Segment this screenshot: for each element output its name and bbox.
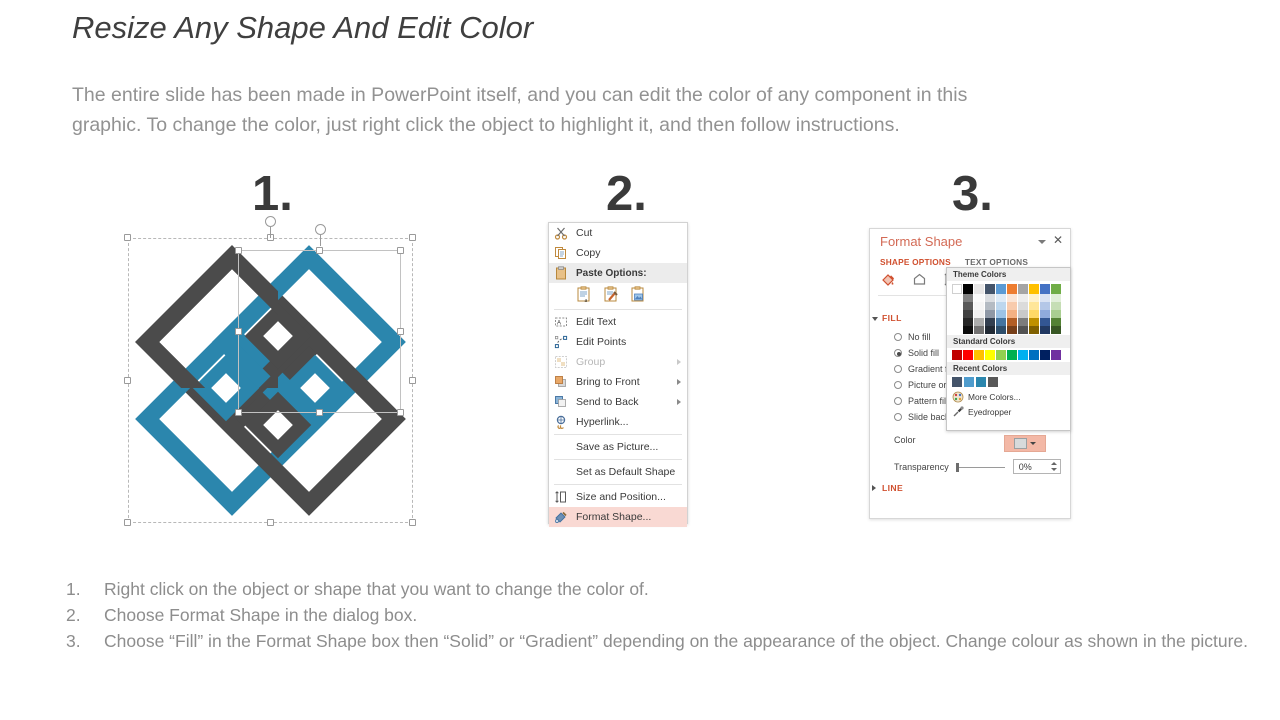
theme-color-variant[interactable] xyxy=(963,302,973,310)
theme-color-variant[interactable] xyxy=(996,302,1006,310)
theme-color-column-6[interactable] xyxy=(1018,284,1028,334)
theme-color-variant[interactable] xyxy=(952,326,962,334)
theme-color-variant[interactable] xyxy=(1029,310,1039,318)
theme-color-variant[interactable] xyxy=(985,294,995,302)
menu-separator xyxy=(554,434,682,435)
recent-color-swatch[interactable] xyxy=(976,377,986,387)
theme-color-column-2[interactable] xyxy=(974,284,984,334)
color-label: Color xyxy=(894,435,916,445)
theme-color-variant[interactable] xyxy=(985,318,995,326)
instruction-text: Choose “Fill” in the Format Shape box th… xyxy=(104,628,1276,654)
menu-item-label: Paste Options: xyxy=(576,268,647,279)
resize-handle-ne[interactable] xyxy=(409,234,416,241)
standard-color-swatch[interactable] xyxy=(963,350,973,360)
theme-color-column-0[interactable] xyxy=(952,284,962,334)
hyperlink-icon xyxy=(554,415,568,429)
instruction-number: 1. xyxy=(66,576,104,602)
menu-separator xyxy=(554,484,682,485)
format-shape-tabs[interactable]: SHAPE OPTIONS TEXT OPTIONS xyxy=(880,257,1028,267)
spinner-up-icon[interactable] xyxy=(1051,462,1057,465)
theme-color-variant[interactable] xyxy=(1007,294,1017,302)
theme-color-variant[interactable] xyxy=(1007,310,1017,318)
theme-color-variant[interactable] xyxy=(1051,318,1061,326)
inner-handle-se[interactable] xyxy=(397,409,404,416)
instructions-list: 1. Right click on the object or shape th… xyxy=(66,576,1276,654)
theme-color-column-7[interactable] xyxy=(1029,284,1039,334)
instruction-number: 2. xyxy=(66,602,104,628)
radio-icon[interactable] xyxy=(894,413,902,421)
theme-color-variant[interactable] xyxy=(1051,326,1061,334)
standard-color-swatch[interactable] xyxy=(1040,350,1050,360)
theme-color-variant[interactable] xyxy=(1029,326,1039,334)
svg-text:A: A xyxy=(557,321,561,327)
menu-item-label: Hyperlink... xyxy=(576,416,629,428)
theme-color-variant[interactable] xyxy=(1040,310,1050,318)
step-number-2: 2. xyxy=(606,170,647,219)
theme-color-variant[interactable] xyxy=(974,310,984,318)
resize-handle-w[interactable] xyxy=(124,377,131,384)
menu-item-size-and-position[interactable]: Size and Position... xyxy=(549,487,687,507)
inner-handle-s[interactable] xyxy=(316,409,323,416)
theme-color-variant[interactable] xyxy=(985,310,995,318)
eyedropper-item[interactable]: Eyedropper xyxy=(947,404,1070,419)
theme-color-swatch[interactable] xyxy=(1029,284,1039,294)
bring-front-icon xyxy=(554,375,568,389)
recent-colors-grid[interactable] xyxy=(947,375,1070,389)
resize-handle-se[interactable] xyxy=(409,519,416,526)
inner-handle-n[interactable] xyxy=(316,247,323,254)
theme-color-variant[interactable] xyxy=(952,302,962,310)
theme-color-swatch[interactable] xyxy=(1018,284,1028,294)
eyedropper-icon xyxy=(952,406,964,418)
submenu-arrow-icon xyxy=(677,379,681,385)
eyedropper-label: Eyedropper xyxy=(968,407,1011,417)
instruction-item-1: 1. Right click on the object or shape th… xyxy=(66,576,1276,602)
theme-color-variant[interactable] xyxy=(963,326,973,334)
spinner-down-icon[interactable] xyxy=(1051,468,1057,471)
theme-color-variant[interactable] xyxy=(963,294,973,302)
menu-separator xyxy=(554,309,682,310)
recent-colors-label: Recent Colors xyxy=(947,362,1070,375)
recent-color-swatch[interactable] xyxy=(988,377,998,387)
theme-color-variant[interactable] xyxy=(1018,326,1028,334)
close-icon[interactable]: ✕ xyxy=(1053,234,1063,246)
menu-item-label: Group xyxy=(576,356,605,368)
paste-keep-formatting-icon[interactable]: a xyxy=(576,286,593,304)
standard-color-swatch[interactable] xyxy=(952,350,962,360)
theme-color-variant[interactable] xyxy=(1040,318,1050,326)
more-colors-item[interactable]: More Colors... xyxy=(947,389,1070,404)
format-shape-icon xyxy=(554,510,568,524)
menu-item-label: Save as Picture... xyxy=(576,441,658,453)
theme-color-variant[interactable] xyxy=(952,310,962,318)
theme-color-column-1[interactable] xyxy=(963,284,973,334)
transparency-label: Transparency xyxy=(894,462,949,472)
theme-color-variant[interactable] xyxy=(996,310,1006,318)
standard-colors-label: Standard Colors xyxy=(947,335,1070,348)
step-number-1: 1. xyxy=(252,170,293,219)
theme-color-swatch[interactable] xyxy=(963,284,973,294)
radio-icon[interactable] xyxy=(894,397,902,405)
fill-bucket-icon[interactable] xyxy=(880,272,897,292)
theme-color-variant[interactable] xyxy=(1029,294,1039,302)
theme-color-variant[interactable] xyxy=(996,294,1006,302)
menu-item-label: Copy xyxy=(576,247,601,259)
inner-handle-e[interactable] xyxy=(397,328,404,335)
theme-color-swatch[interactable] xyxy=(1051,284,1061,294)
resize-handle-sw[interactable] xyxy=(124,519,131,526)
theme-color-swatch[interactable] xyxy=(1007,284,1017,294)
recent-color-swatch[interactable] xyxy=(952,377,962,387)
menu-item-send-to-back[interactable]: Send to Back xyxy=(549,392,687,412)
scissors-icon xyxy=(554,226,568,240)
submenu-arrow-icon xyxy=(677,399,681,405)
subtitle-line-2: graphic. To change the color, just right… xyxy=(72,110,1212,140)
fill-option-label: No fill xyxy=(908,332,931,342)
palette-icon xyxy=(952,391,964,403)
color-dropdown[interactable]: Theme Colors Standard Colors Recent Colo… xyxy=(946,267,1071,431)
format-shape-title: Format Shape xyxy=(880,234,962,249)
transparency-row[interactable]: Transparency 0% xyxy=(894,459,1066,474)
theme-color-variant[interactable] xyxy=(974,294,984,302)
submenu-arrow-icon xyxy=(677,359,681,365)
theme-color-swatch[interactable] xyxy=(1040,284,1050,294)
expand-triangle-icon xyxy=(872,317,878,321)
theme-color-variant[interactable] xyxy=(974,326,984,334)
theme-color-column-3[interactable] xyxy=(985,284,995,334)
standard-colors-grid[interactable] xyxy=(947,348,1070,362)
theme-color-variant[interactable] xyxy=(1040,302,1050,310)
resize-handle-s[interactable] xyxy=(267,519,274,526)
inner-handle-ne[interactable] xyxy=(397,247,404,254)
instruction-text: Right click on the object or shape that … xyxy=(104,576,1276,602)
color-swatch xyxy=(1014,438,1027,449)
edit-text-icon: A xyxy=(554,315,568,329)
theme-color-variant[interactable] xyxy=(952,318,962,326)
theme-color-column-8[interactable] xyxy=(1040,284,1050,334)
paste-picture-icon[interactable] xyxy=(630,286,647,304)
menu-item-label: Bring to Front xyxy=(576,376,640,388)
theme-color-variant[interactable] xyxy=(1051,302,1061,310)
resize-handle-nw[interactable] xyxy=(124,234,131,241)
instruction-number: 3. xyxy=(66,628,104,654)
rotate-handle-outer[interactable] xyxy=(265,216,276,227)
instruction-item-3: 3. Choose “Fill” in the Format Shape box… xyxy=(66,628,1276,654)
menu-item-label: Send to Back xyxy=(576,396,638,408)
standard-color-swatch[interactable] xyxy=(1029,350,1039,360)
theme-color-variant[interactable] xyxy=(974,318,984,326)
theme-color-variant[interactable] xyxy=(1040,294,1050,302)
theme-color-variant[interactable] xyxy=(1018,310,1028,318)
send-back-icon xyxy=(554,395,568,409)
menu-item-paste-options: Paste Options: xyxy=(549,263,687,283)
theme-color-swatch[interactable] xyxy=(985,284,995,294)
fill-option-label: Solid fill xyxy=(908,348,939,358)
theme-color-swatch[interactable] xyxy=(974,284,984,294)
radio-icon[interactable] xyxy=(894,381,902,389)
theme-color-variant[interactable] xyxy=(1051,310,1061,318)
selection-inner-bounds xyxy=(238,250,401,413)
theme-color-variant[interactable] xyxy=(963,318,973,326)
rotate-handle-inner[interactable] xyxy=(315,224,326,235)
resize-handle-e[interactable] xyxy=(409,377,416,384)
transparency-spinner[interactable]: 0% xyxy=(1013,459,1061,474)
theme-color-variant[interactable] xyxy=(985,326,995,334)
theme-color-variant[interactable] xyxy=(974,302,984,310)
menu-item-bring-to-front[interactable]: Bring to Front xyxy=(549,372,687,392)
theme-color-variant[interactable] xyxy=(985,302,995,310)
recent-color-swatch[interactable] xyxy=(964,377,974,387)
menu-item-set-default-shape[interactable]: Set as Default Shape xyxy=(549,462,687,482)
theme-color-variant[interactable] xyxy=(1018,302,1028,310)
inner-handle-w[interactable] xyxy=(235,328,242,335)
effects-pentagon-icon[interactable] xyxy=(911,272,928,292)
theme-color-variant[interactable] xyxy=(1007,302,1017,310)
svg-text:a: a xyxy=(585,298,588,304)
fill-option-label: Pattern fill xyxy=(908,396,948,406)
theme-colors-label: Theme Colors xyxy=(947,268,1070,281)
theme-color-variant[interactable] xyxy=(996,326,1006,334)
menu-item-label: Edit Text xyxy=(576,316,616,328)
instruction-item-2: 2. Choose Format Shape in the dialog box… xyxy=(66,602,1276,628)
slider-track xyxy=(959,467,1005,468)
menu-item-label: Set as Default Shape xyxy=(576,466,675,478)
shape-graphic-panel[interactable] xyxy=(128,238,413,523)
collapse-triangle-icon xyxy=(872,485,879,491)
menu-item-label: Cut xyxy=(576,227,592,239)
theme-color-variant[interactable] xyxy=(1051,294,1061,302)
paste-keep-source-icon[interactable] xyxy=(603,286,620,304)
instruction-text: Choose Format Shape in the dialog box. xyxy=(104,602,1276,628)
menu-item-copy[interactable]: Copy xyxy=(549,243,687,263)
menu-item-format-shape[interactable]: Format Shape... xyxy=(549,507,687,527)
step-number-3: 3. xyxy=(952,170,993,219)
menu-item-label: Format Shape... xyxy=(576,511,651,523)
section-header-line[interactable]: LINE xyxy=(882,483,903,493)
more-colors-label: More Colors... xyxy=(968,392,1021,402)
menu-item-label: Size and Position... xyxy=(576,491,666,503)
chevron-down-icon[interactable] xyxy=(1030,442,1036,445)
transparency-slider[interactable] xyxy=(955,462,1007,472)
menu-item-save-as-picture[interactable]: Save as Picture... xyxy=(549,437,687,457)
edit-points-icon xyxy=(554,335,568,349)
inner-handle-sw[interactable] xyxy=(235,409,242,416)
menu-item-group: Group xyxy=(549,352,687,372)
theme-color-variant[interactable] xyxy=(1007,318,1017,326)
page-title: Resize Any Shape And Edit Color xyxy=(72,10,533,46)
tab-shape-options[interactable]: SHAPE OPTIONS xyxy=(880,257,951,267)
theme-color-column-9[interactable] xyxy=(1051,284,1061,334)
radio-icon[interactable] xyxy=(894,365,902,373)
theme-color-variant[interactable] xyxy=(1029,302,1039,310)
standard-color-swatch[interactable] xyxy=(1051,350,1061,360)
theme-color-swatch[interactable] xyxy=(952,284,962,294)
menu-item-hyperlink[interactable]: Hyperlink... xyxy=(549,412,687,432)
context-menu[interactable]: Cut Copy Paste Options: xyxy=(548,222,688,524)
menu-separator xyxy=(554,459,682,460)
section-label: FILL xyxy=(882,313,902,323)
standard-color-swatch[interactable] xyxy=(1007,350,1017,360)
color-picker-button[interactable] xyxy=(1004,435,1046,452)
size-position-icon xyxy=(554,490,568,504)
standard-color-swatch[interactable] xyxy=(974,350,984,360)
page-subtitle: The entire slide has been made in PowerP… xyxy=(72,80,1212,140)
theme-color-column-4[interactable] xyxy=(996,284,1006,334)
theme-color-variant[interactable] xyxy=(996,318,1006,326)
copy-icon xyxy=(554,246,568,260)
clipboard-icon xyxy=(554,266,568,280)
menu-item-cut[interactable]: Cut xyxy=(549,223,687,243)
theme-color-variant[interactable] xyxy=(1029,318,1039,326)
menu-item-edit-points[interactable]: Edit Points xyxy=(549,332,687,352)
theme-color-variant[interactable] xyxy=(1018,294,1028,302)
theme-color-variant[interactable] xyxy=(963,310,973,318)
chevron-down-icon[interactable] xyxy=(1038,240,1046,244)
paste-options-row[interactable]: a xyxy=(549,283,687,307)
theme-color-variant[interactable] xyxy=(952,294,962,302)
radio-icon[interactable] xyxy=(894,333,902,341)
theme-color-variant[interactable] xyxy=(1040,326,1050,334)
theme-color-variant[interactable] xyxy=(1007,326,1017,334)
color-row[interactable]: Color xyxy=(894,435,1062,445)
standard-color-swatch[interactable] xyxy=(996,350,1006,360)
theme-color-variant[interactable] xyxy=(1018,318,1028,326)
theme-color-swatch[interactable] xyxy=(996,284,1006,294)
section-label: LINE xyxy=(882,483,903,493)
subtitle-line-1: The entire slide has been made in PowerP… xyxy=(72,84,967,106)
radio-icon-selected[interactable] xyxy=(894,349,902,357)
section-header-fill[interactable]: FILL xyxy=(882,313,902,323)
theme-color-column-5[interactable] xyxy=(1007,284,1017,334)
inner-handle-nw[interactable] xyxy=(235,247,242,254)
menu-item-edit-text[interactable]: A Edit Text xyxy=(549,312,687,332)
slider-thumb[interactable] xyxy=(956,463,959,472)
transparency-value: 0% xyxy=(1019,462,1032,472)
standard-color-swatch[interactable] xyxy=(1018,350,1028,360)
tab-text-options[interactable]: TEXT OPTIONS xyxy=(965,257,1028,267)
standard-color-swatch[interactable] xyxy=(985,350,995,360)
menu-item-label: Edit Points xyxy=(576,336,626,348)
slide-canvas: Resize Any Shape And Edit Color The enti… xyxy=(0,0,1280,720)
theme-colors-grid[interactable] xyxy=(947,281,1070,335)
group-icon xyxy=(554,355,568,369)
